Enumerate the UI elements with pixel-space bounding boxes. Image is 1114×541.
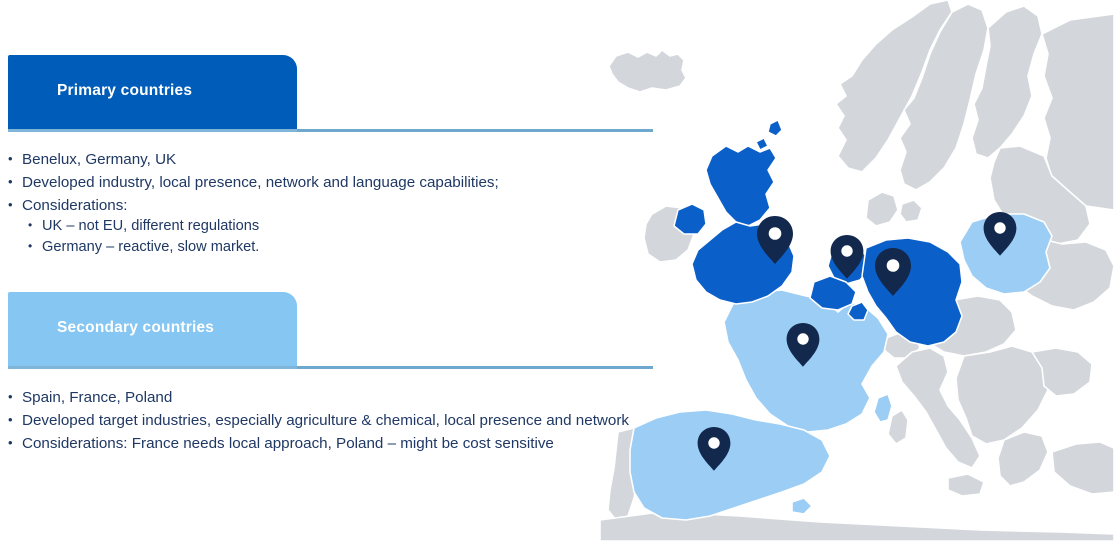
section-primary-countries: Primary countries (0, 55, 660, 133)
list-item: Considerations: France needs local appro… (0, 433, 648, 454)
uk-shetland (768, 120, 782, 136)
bullet-text: UK – not EU, different regulations (42, 218, 259, 234)
bullet-text: Germany – reactive, slow market. (42, 239, 259, 255)
island-balearics (792, 498, 812, 514)
uk-orkney (756, 138, 768, 150)
list-item: Spain, France, Poland (0, 387, 648, 408)
country-uk-scotland (706, 146, 776, 226)
bullet-text: Benelux, Germany, UK (22, 151, 176, 168)
country-denmark-isles (900, 200, 922, 222)
country-balkans (956, 346, 1048, 444)
island-sicily (948, 474, 984, 496)
bullet-text: Spain, France, Poland (22, 389, 172, 406)
list-item: Considerations: UK – not EU, different r… (0, 195, 648, 258)
island-corsica (874, 394, 892, 422)
secondary-header-label: Secondary countries (57, 319, 214, 337)
europe-map (600, 0, 1114, 541)
list-item: Benelux, Germany, UK (0, 149, 648, 170)
bullet-text: Developed industry, local presence, netw… (22, 174, 499, 191)
primary-bullet-list: Benelux, Germany, UK Developed industry,… (0, 149, 648, 260)
country-denmark (866, 192, 898, 226)
secondary-header-rule-cap (8, 366, 297, 369)
island-sardinia-grey (888, 410, 908, 444)
section-secondary-countries: Secondary countries (0, 292, 660, 370)
list-item: Developed target industries, especially … (0, 410, 648, 431)
primary-header-rule-cap (8, 129, 297, 132)
sub-list-item: UK – not EU, different regulations (22, 216, 648, 237)
sub-list-item: Germany – reactive, slow market. (22, 237, 648, 258)
country-turkey (1052, 442, 1114, 494)
list-item: Developed industry, local presence, netw… (0, 172, 648, 193)
country-greece (998, 432, 1048, 486)
bullet-text: Considerations: France needs local appro… (22, 435, 554, 452)
secondary-bullet-list: Spain, France, Poland Developed target i… (0, 387, 648, 456)
bullet-text: Developed target industries, especially … (22, 412, 629, 429)
primary-header-label: Primary countries (57, 82, 192, 100)
primary-header-wrap: Primary countries (0, 55, 660, 133)
bullet-text: Considerations: (22, 197, 128, 214)
secondary-header-wrap: Secondary countries (0, 292, 660, 370)
